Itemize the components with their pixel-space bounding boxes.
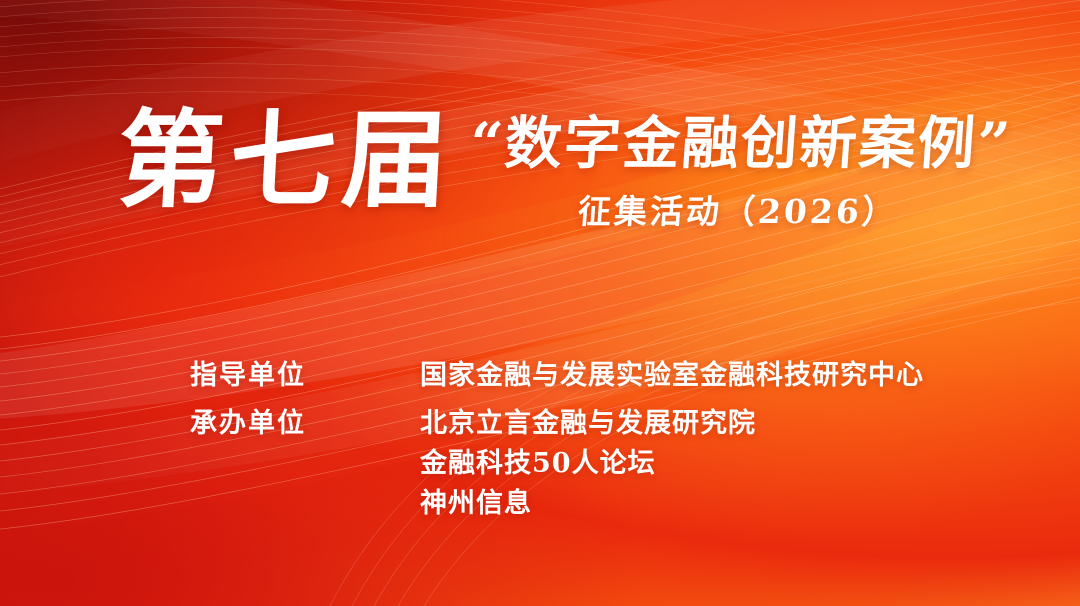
credits-section: 指导单位 国家金融与发展实验室金融科技研究中心 承办单位 北京立言金融与发展研究… — [0, 356, 1080, 532]
subheadline: 征集活动（2026） — [469, 192, 1072, 232]
credit-value: 国家金融与发展实验室金融科技研究中心 — [420, 356, 924, 396]
poster-banner: 第七届 “数字金融创新案例” 征集活动（2026） 指导单位 国家金融与发展实验… — [0, 0, 1080, 606]
credit-value: 金融科技50人论坛 — [420, 444, 756, 484]
credit-values-organizer: 北京立言金融与发展研究院 金融科技50人论坛 神州信息 — [232, 404, 756, 524]
credit-value: 神州信息 — [420, 484, 756, 524]
main-headline: “数字金融创新案例” — [468, 112, 1072, 176]
credit-row: 指导单位 国家金融与发展实验室金融科技研究中心 — [0, 356, 1080, 396]
credit-label-guidance: 指导单位 — [0, 356, 232, 396]
credit-row: 承办单位 北京立言金融与发展研究院 金融科技50人论坛 神州信息 — [0, 404, 1080, 524]
credit-values-guidance: 国家金融与发展实验室金融科技研究中心 — [232, 356, 924, 396]
credit-label-organizer: 承办单位 — [0, 404, 232, 444]
headline-block: “数字金融创新案例” 征集活动（2026） — [470, 112, 1070, 231]
poster-content: 第七届 “数字金融创新案例” 征集活动（2026） 指导单位 国家金融与发展实验… — [0, 0, 1080, 606]
credit-value: 北京立言金融与发展研究院 — [420, 404, 756, 444]
edition-title: 第七届 — [115, 104, 457, 215]
title-row: 第七届 “数字金融创新案例” 征集活动（2026） — [0, 104, 1080, 254]
